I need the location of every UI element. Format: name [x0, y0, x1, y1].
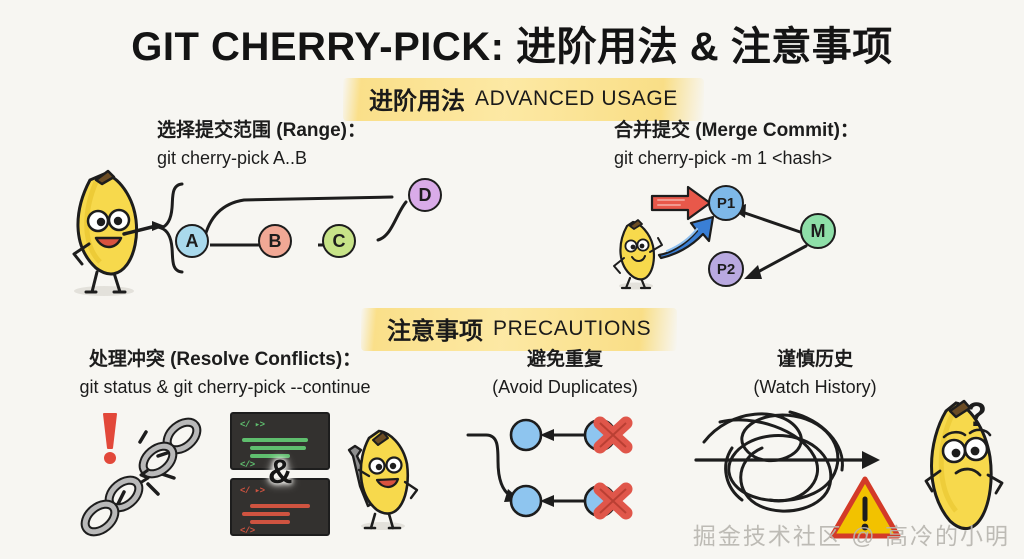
banner-precautions-en: PRECAUTIONS: [493, 317, 651, 341]
banner-advanced-usage: 进阶用法 ADVANCED USAGE: [343, 78, 704, 121]
banner-precautions: 注意事项 PRECAUTIONS: [361, 308, 677, 351]
section-banner-precautions: 注意事项 PRECAUTIONS: [361, 308, 677, 351]
history-panel-subtitle: (Watch History): [705, 375, 925, 399]
commit-node-d[interactable]: D: [408, 178, 442, 212]
banner-advanced-cn: 进阶用法: [369, 81, 465, 116]
duplicate-commits-diagram: [468, 405, 658, 530]
range-graph-edges: [170, 170, 450, 285]
duplicates-panel-title: 避免重复: [455, 347, 675, 373]
page-title: GIT CHERRY-PICK: 进阶用法 & 注意事项: [0, 14, 1024, 72]
merge-node-p1[interactable]: P1: [708, 185, 744, 221]
commit-node-a[interactable]: A: [175, 224, 209, 258]
banner-advanced-en: ADVANCED USAGE: [475, 87, 678, 111]
banana-pointing-character: [52, 168, 174, 298]
broken-chain-icon: [62, 408, 222, 538]
question-mark-icon: ?: [966, 396, 987, 435]
conflict-joiner-ampersand: &: [268, 453, 293, 492]
merge-panel-command: git cherry-pick -m 1 <hash>: [614, 146, 832, 170]
infographic-canvas: GIT CHERRY-PICK: 进阶用法 & 注意事项 进阶用法 ADVANC…: [0, 0, 1024, 559]
section-banner-advanced: 进阶用法 ADVANCED USAGE: [343, 78, 704, 121]
commit-node-b[interactable]: B: [258, 224, 292, 258]
merge-panel-title: 合并提交 (Merge Commit)：: [614, 118, 859, 144]
banana-wrench-character: [335, 420, 425, 532]
cross-icon: [600, 423, 626, 513]
duplicates-panel-subtitle: (Avoid Duplicates): [455, 375, 675, 399]
merge-node-p2[interactable]: P2: [708, 251, 744, 287]
history-panel-title: 谨慎历史: [705, 347, 925, 373]
commit-node-c[interactable]: C: [322, 224, 356, 258]
watermark: 掘金技术社区 @ 高冷的小明: [693, 517, 1010, 551]
range-panel-title: 选择提交范围 (Range)：: [157, 118, 366, 144]
conflict-panel-title: 处理冲突 (Resolve Conflicts)：: [30, 347, 420, 373]
merge-node-m[interactable]: M: [800, 213, 836, 249]
conflict-panel-command: git status & git cherry-pick --continue: [30, 375, 420, 399]
banner-precautions-cn: 注意事项: [387, 311, 483, 346]
range-panel-command: git cherry-pick A..B: [157, 146, 307, 170]
